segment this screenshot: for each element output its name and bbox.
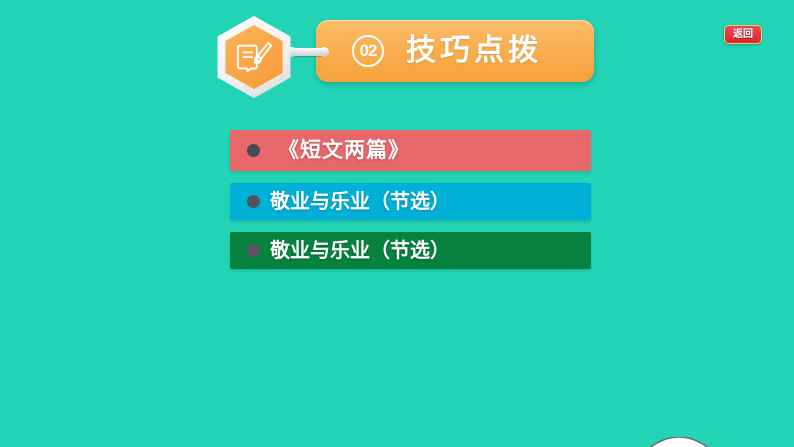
hexagon-badge: [206, 12, 306, 104]
section-number-badge: 02: [352, 35, 384, 67]
section-title-plate: 02 技巧点拨: [316, 20, 594, 82]
document-pen-icon: [235, 39, 273, 77]
bullet-icon: [247, 195, 260, 208]
list-item-label: 《短文两篇》: [278, 140, 410, 161]
content-bar-list: 《短文两篇》 敬业与乐业（节选） 敬业与乐业（节选）: [230, 130, 591, 281]
list-item-label: 敬业与乐业（节选）: [270, 192, 450, 212]
bottom-decoration-shape: [636, 437, 722, 447]
slide-canvas: 返回 02 技巧点拨 《短文两篇》: [0, 0, 794, 447]
list-item[interactable]: 《短文两篇》: [230, 130, 591, 171]
section-header: 02 技巧点拨: [206, 8, 596, 104]
list-item[interactable]: 敬业与乐业（节选）: [230, 232, 591, 269]
list-item[interactable]: 敬业与乐业（节选）: [230, 183, 591, 220]
bullet-icon: [247, 244, 260, 257]
page-title: 技巧点拨: [406, 36, 542, 66]
list-item-label: 敬业与乐业（节选）: [270, 241, 450, 261]
return-button[interactable]: 返回: [724, 25, 762, 44]
return-button-label: 返回: [733, 30, 753, 40]
bullet-icon: [247, 144, 260, 157]
